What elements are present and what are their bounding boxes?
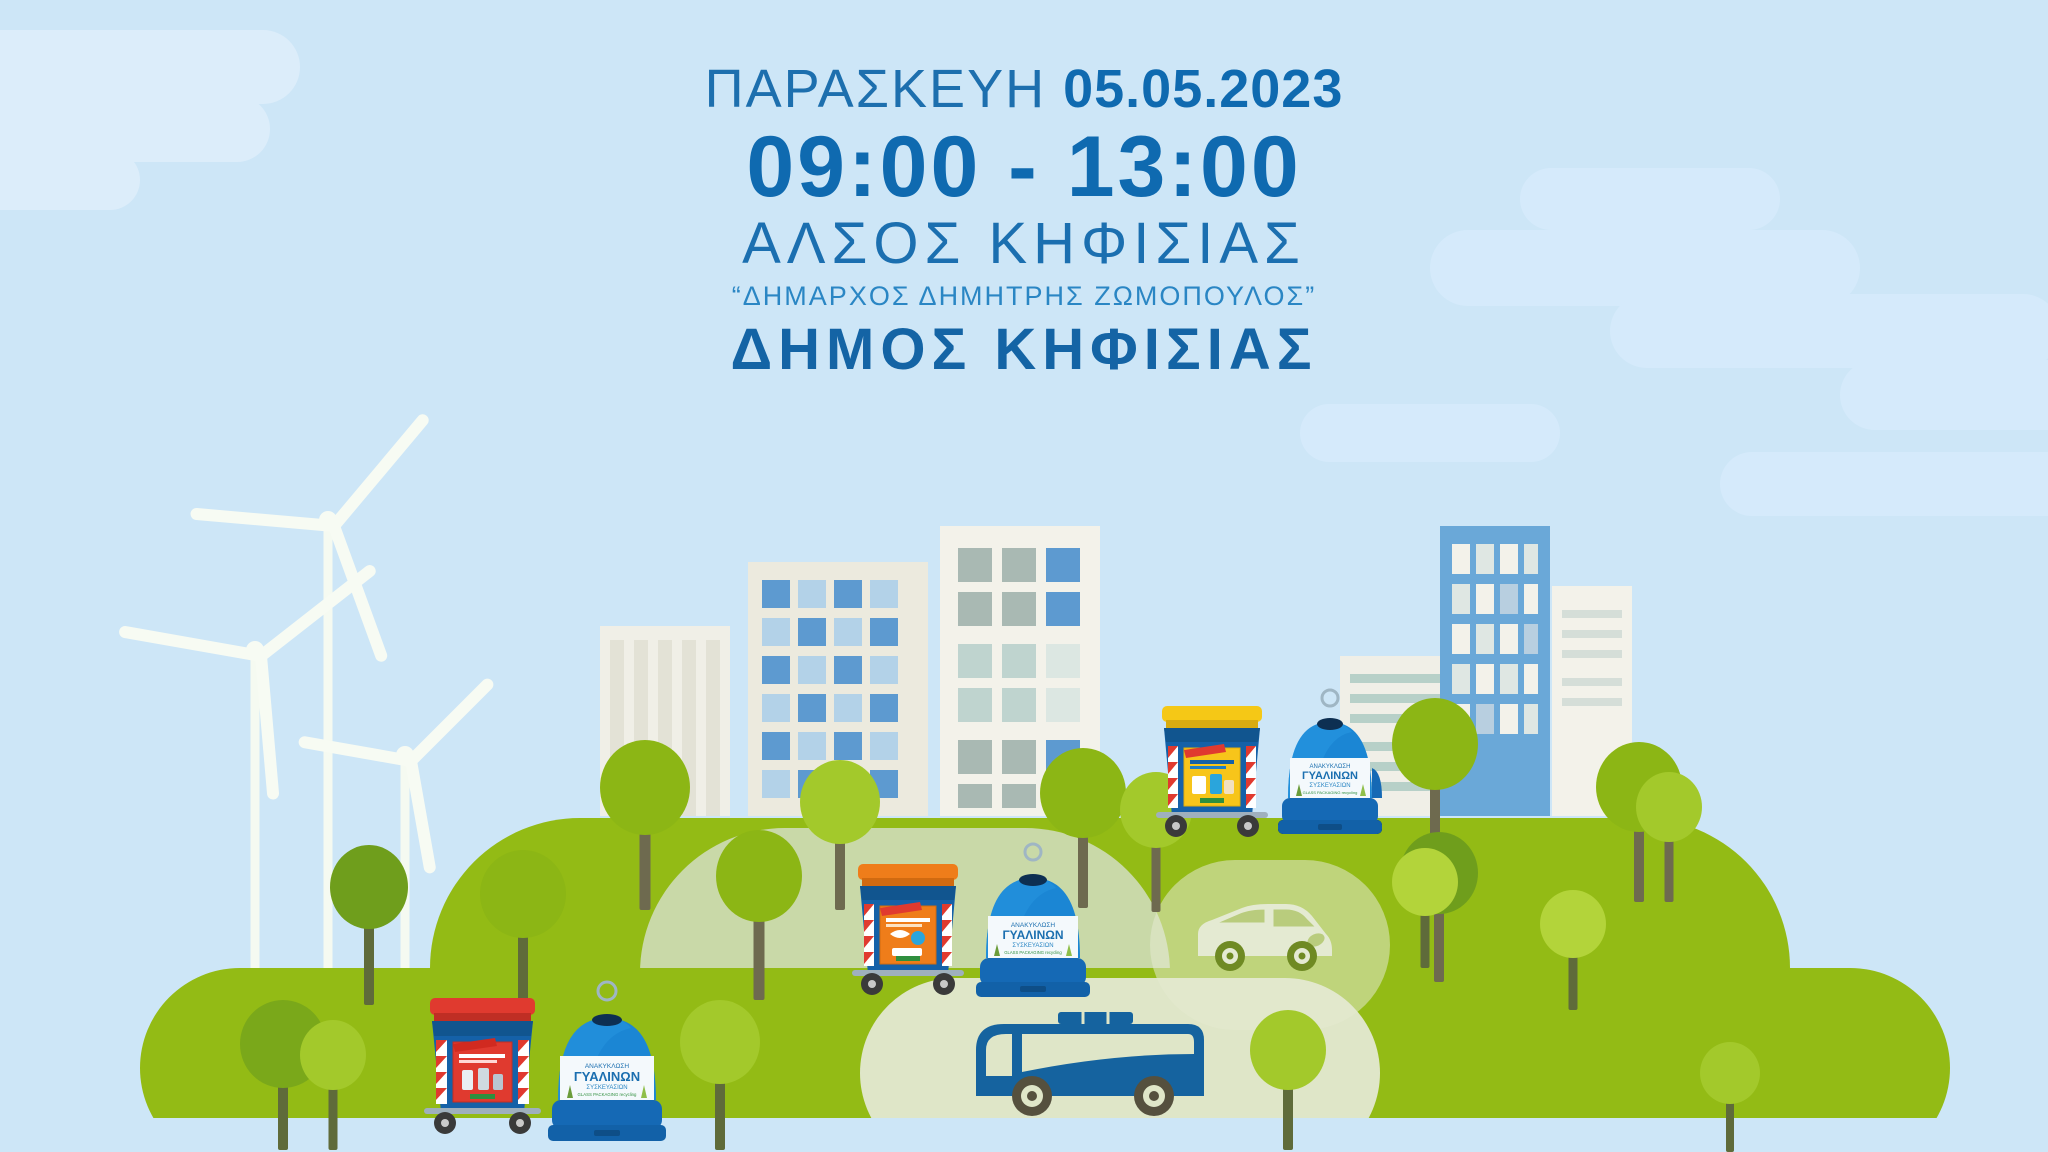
tree-icon: [1700, 1042, 1760, 1152]
paper-wheelie-bin: [848, 858, 968, 998]
bus-icon: [960, 1010, 1220, 1125]
svg-text:ΣΥΣΚΕΥΑΣΙΩΝ: ΣΥΣΚΕΥΑΣΙΩΝ: [1012, 943, 1053, 949]
cloud-shape: [1300, 404, 1560, 462]
event-organizer: ΔΗΜΟΣ ΚΗΦΙΣΙΑΣ: [0, 316, 2048, 383]
tree-icon: [1540, 890, 1606, 1010]
tree-icon: [300, 1020, 366, 1150]
event-text-block: ΠΑΡΑΣΚΕΥΗ 05.05.2023 09:00 - 13:00 ΑΛΣΟΣ…: [0, 58, 2048, 383]
glass-bell-container: ΑΝΑΚΥΚΛΩΣΗ ΓΥΑΛΙΝΩΝ ΣΥΣΚΕΥΑΣΙΩΝ GLASS PA…: [1270, 688, 1390, 840]
event-venue-subtitle: “ΔΗΜΑΡΧΟΣ ΔΗΜΗΤΡΗΣ ΖΩΜΟΠΟΥΛΟΣ”: [0, 281, 2048, 312]
tree-icon: [330, 845, 408, 1005]
glass-bell-container: ΑΝΑΚΥΚΛΩΣΗ ΓΥΑΛΙΝΩΝ ΣΥΣΚΕΥΑΣΙΩΝ GLASS PA…: [540, 980, 675, 1150]
cloud-shape: [1720, 452, 2048, 516]
electric-car-icon: [1190, 890, 1340, 980]
tree-icon: [1250, 1010, 1326, 1150]
svg-text:GLASS PACKAGING recycling: GLASS PACKAGING recycling: [1303, 790, 1358, 795]
svg-text:ΣΥΣΚΕΥΑΣΙΩΝ: ΣΥΣΚΕΥΑΣΙΩΝ: [586, 1085, 627, 1091]
event-date: 05.05.2023: [1063, 59, 1343, 119]
tree-icon: [680, 1000, 760, 1150]
svg-text:ΣΥΣΚΕΥΑΣΙΩΝ: ΣΥΣΚΕΥΑΣΙΩΝ: [1309, 783, 1350, 789]
event-venue: ΑΛΣΟΣ ΚΗΦΙΣΙΑΣ: [0, 210, 2048, 277]
tree-icon: [1392, 848, 1458, 968]
recycling-event-poster: ΠΑΡΑΣΚΕΥΗ 05.05.2023 09:00 - 13:00 ΑΛΣΟΣ…: [0, 0, 2048, 1152]
svg-text:GLASS PACKAGING recycling: GLASS PACKAGING recycling: [1004, 950, 1062, 955]
event-weekday: ΠΑΡΑΣΚΕΥΗ: [705, 59, 1046, 119]
svg-text:ΓΥΑΛΙΝΩΝ: ΓΥΑΛΙΝΩΝ: [574, 1069, 640, 1084]
event-date-line: ΠΑΡΑΣΚΕΥΗ 05.05.2023: [0, 58, 2048, 120]
tree-icon: [716, 830, 802, 1000]
svg-text:GLASS PACKAGING recycling: GLASS PACKAGING recycling: [578, 1092, 638, 1097]
glass-bell-container: ΑΝΑΚΥΚΛΩΣΗ ΓΥΑΛΙΝΩΝ ΣΥΣΚΕΥΑΣΙΩΝ GLASS PA…: [968, 842, 1098, 1004]
svg-text:ΓΥΑΛΙΝΩΝ: ΓΥΑΛΙΝΩΝ: [1002, 928, 1063, 942]
plastic-wheelie-bin: [1152, 700, 1272, 840]
metal-wheelie-bin: [420, 992, 545, 1137]
svg-text:ΓΥΑΛΙΝΩΝ: ΓΥΑΛΙΝΩΝ: [1302, 770, 1358, 782]
tree-icon: [1636, 772, 1702, 902]
tree-icon: [480, 850, 566, 1000]
event-time-range: 09:00 - 13:00: [0, 122, 2048, 212]
tree-icon: [600, 740, 690, 910]
